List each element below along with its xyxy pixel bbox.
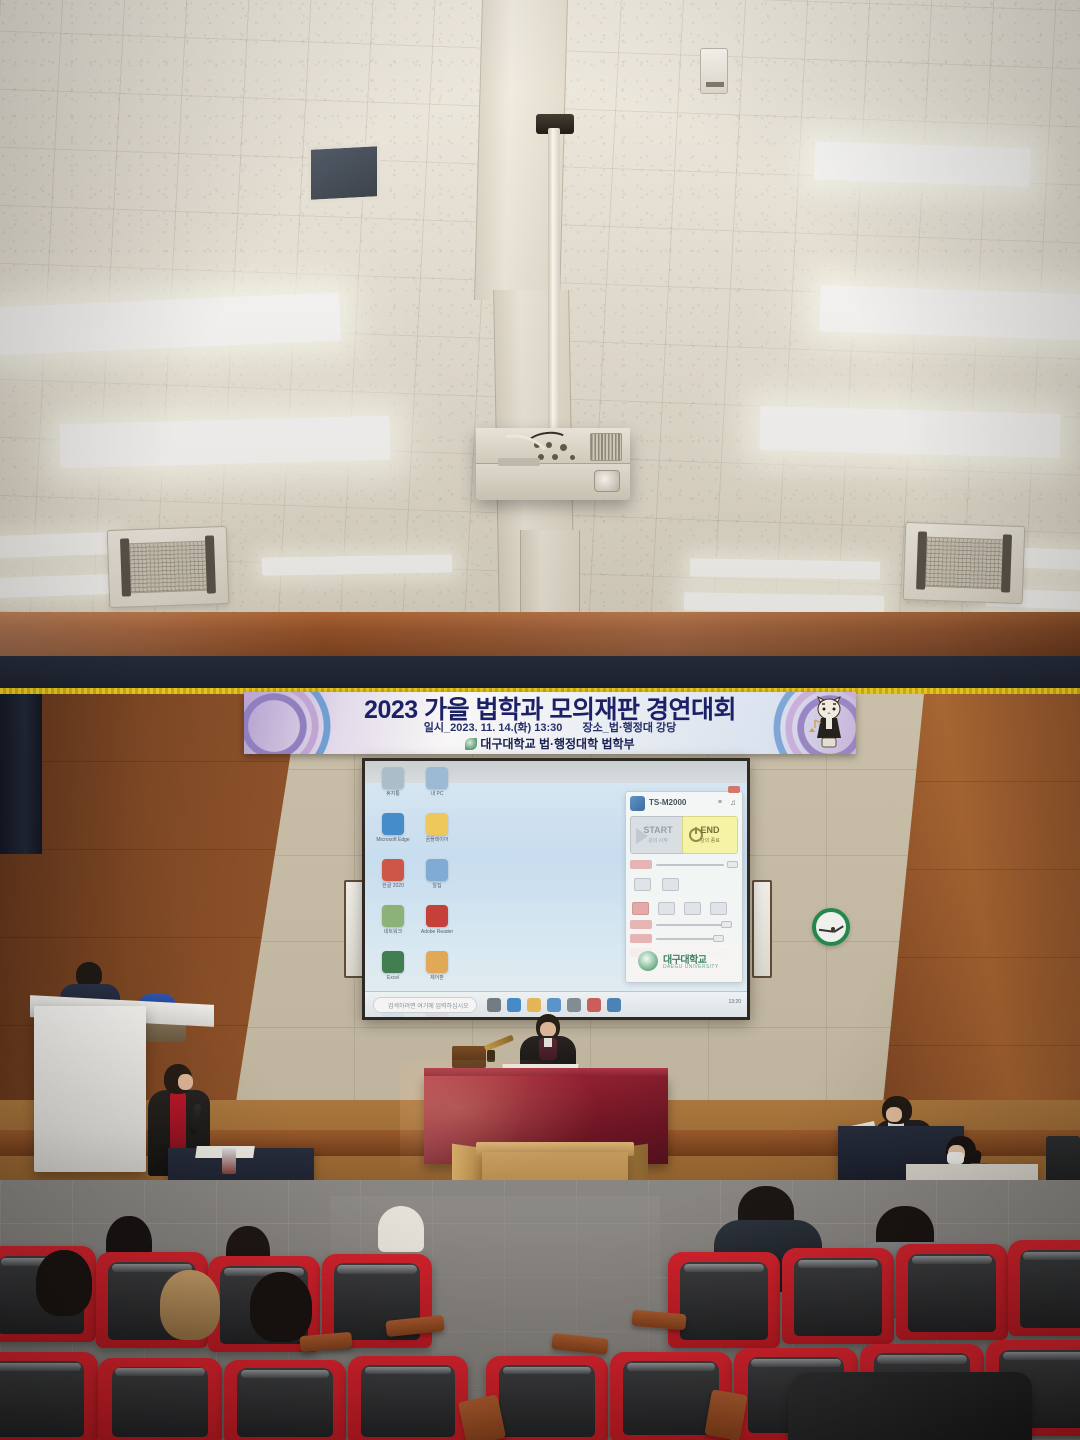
desktop-icon[interactable]: 한글 2020 [373,859,413,901]
auditorium-seat[interactable] [896,1244,1008,1340]
auditorium-seat[interactable] [98,1358,222,1440]
projector-lens-icon [594,470,620,492]
ceiling [0,0,1080,612]
desktop-icon[interactable]: 네트워크 [373,905,413,947]
start-label: START [631,825,685,835]
university-emblem-icon [638,951,658,971]
start-sublabel: 강의 시작 [631,837,685,844]
panel-minimize-icon[interactable]: ≡ [718,799,722,806]
prosecutor-face [178,1074,193,1090]
banner-organization-line: 대구대학교 법·행정대학 법학부 [244,735,856,752]
judge-face [540,1022,556,1037]
desktop-icon-grid: 휴지통 내 PC Microsoft Edge 곰플레이어 한글 2020 알집… [371,767,463,1017]
face-mask-icon [947,1152,964,1164]
desktop-icon[interactable]: 내 PC [417,767,457,809]
audience-head [36,1250,92,1316]
av-control-panel[interactable]: TS-M2000 ≡ ♫ START 강의 시작 END 강의 종료 [625,791,743,983]
auditorium-seat[interactable] [348,1356,468,1440]
panel-audio-icon[interactable]: ♫ [730,798,736,807]
tiger-judge-mascot-icon [808,696,850,750]
auditorium-scene: 2023 가을 법학과 모의재판 경연대회 일시_2023. 11. 14.(화… [0,0,1080,1440]
gavel-handle [487,1050,495,1062]
stage-valance [0,656,1080,692]
banner-organization: 대구대학교 법·행정대학 법학부 [480,737,634,751]
desktop-icon[interactable]: 알집 [417,859,457,901]
draped-coat [788,1372,1032,1440]
seat-armrest [704,1389,747,1440]
auditorium-seat[interactable] [1008,1240,1080,1336]
auditorium-seat[interactable] [486,1356,608,1440]
desktop-icon[interactable]: 휴지통 [373,767,413,809]
wall-clock [812,908,850,946]
auditorium-seat[interactable] [0,1352,98,1440]
start-lecture-button[interactable]: START 강의 시작 [630,816,686,854]
desktop-icon[interactable]: 제어판 [417,951,457,993]
judge-shirt [544,1038,552,1047]
panel-close-icon[interactable] [728,786,740,793]
panel-app-name: TS-M2000 [649,798,686,807]
university-logo: 대구대학교 DAEGU UNIVERSITY [630,944,738,978]
taskbar-search-input[interactable]: 검색하려면 여기에 입력하십시오 [373,997,477,1013]
mic-tag [630,934,652,943]
end-lecture-button[interactable]: END 강의 종료 [682,816,738,854]
taskbar-explorer-icon[interactable] [527,998,541,1012]
desktop-icon[interactable]: Microsoft Edge [373,813,413,855]
projected-desktop: 휴지통 내 PC Microsoft Edge 곰플레이어 한글 2020 알집… [365,761,747,1017]
wall-speaker-left [344,880,364,978]
panel-toggle[interactable] [634,878,651,891]
event-banner: 2023 가을 법학과 모의재판 경연대회 일시_2023. 11. 14.(화… [244,692,856,754]
defense-face [886,1107,902,1122]
auditorium-seat[interactable] [224,1360,346,1440]
slider-knob[interactable] [727,861,738,868]
volume-track[interactable] [656,924,724,926]
panel-app-icon [630,796,645,811]
end-label: END [683,825,737,835]
projector-vent-icon [590,433,622,461]
university-name-en: DAEGU UNIVERSITY [663,964,719,970]
panel-source-button[interactable] [710,902,727,915]
audience-head [250,1272,312,1342]
panel-source-button[interactable] [658,902,675,915]
banner-detail-line: 일시_2023. 11. 14.(화) 13:30 장소_법·행정대 강당 [244,719,856,735]
ceiling-shading [0,0,1080,612]
auditorium-seat[interactable] [782,1248,894,1344]
projector-label [498,458,540,466]
drink-cup [222,1148,236,1174]
projector-pole [548,128,560,438]
ceiling-projector [476,428,630,500]
wall-speaker-right [752,880,772,978]
desktop-icon[interactable]: Adobe Reader [417,905,457,947]
gavel-block [452,1046,486,1068]
taskbar-clock[interactable]: 13:20 [728,999,741,1005]
panel-volume-row[interactable] [630,920,738,931]
panel-source-button[interactable] [684,902,701,915]
taskbar-chrome-icon[interactable] [547,998,561,1012]
proscenium-wood-beam [0,612,1080,656]
clock-center-icon [831,927,835,931]
banner-place: 장소_법·행정대 강당 [582,722,676,734]
volume-knob[interactable] [721,921,732,928]
taskbar-edge-icon[interactable] [507,998,521,1012]
end-sublabel: 강의 종료 [683,837,737,844]
auditorium-seat[interactable] [668,1252,780,1348]
taskbar-app-icon[interactable] [607,998,621,1012]
desktop-icon[interactable]: 곰플레이어 [417,813,457,855]
panel-source-button[interactable] [632,902,649,915]
taskbar-taskview-icon[interactable] [487,998,501,1012]
university-leaf-icon [465,738,477,750]
taskbar-store-icon[interactable] [567,998,581,1012]
stage-side-curtain [0,694,42,854]
clock-hour-hand [833,925,843,933]
prosecutor-red-sash [170,1092,186,1152]
taskbar-pdf-icon[interactable] [587,998,601,1012]
podium [34,1006,146,1172]
banner-date: 일시_2023. 11. 14.(화) 13:30 [424,722,563,734]
slider-track[interactable] [656,864,724,866]
projection-screen: 휴지통 내 PC Microsoft Edge 곰플레이어 한글 2020 알집… [362,758,750,1020]
audience-head [160,1270,220,1340]
projector-port [570,455,575,460]
desktop-icon[interactable]: Excel [373,951,413,993]
volume-tag [630,920,652,929]
panel-toggle[interactable] [662,878,679,891]
audience-head-with-cap [378,1206,424,1252]
panel-slider-row[interactable] [630,860,738,871]
slider-tag [630,860,652,869]
mic-knob[interactable] [713,935,724,942]
panel-header: TS-M2000 ≡ ♫ [630,796,738,812]
